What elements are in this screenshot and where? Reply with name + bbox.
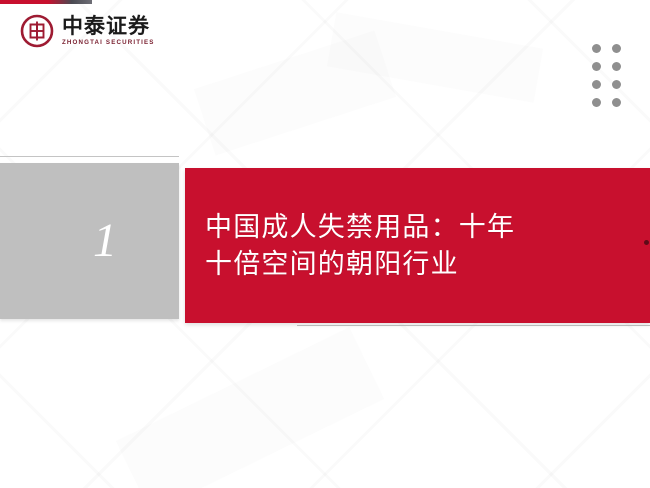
dot (612, 62, 621, 71)
dot (592, 62, 601, 71)
dot (592, 44, 601, 53)
section-title-banner: 中国成人失禁用品：十年 十倍空间的朝阳行业 (185, 168, 650, 323)
brand-logo: 中泰证券 ZHONGTAI SECURITIES (20, 14, 155, 48)
zhongtai-circular-emblem-icon (20, 14, 54, 48)
banner-underline (297, 325, 650, 326)
banner-speck (644, 240, 649, 245)
background-soft-shape (116, 327, 385, 488)
dot-grid-decoration (592, 44, 621, 107)
dot (612, 44, 621, 53)
brand-name-cn: 中泰证券 (62, 16, 155, 37)
dot (612, 98, 621, 107)
brand-name-en: ZHONGTAI SECURITIES (62, 40, 155, 46)
background-soft-shape (194, 30, 396, 155)
section-number: 1 (93, 217, 117, 265)
brand-wordmark: 中泰证券 ZHONGTAI SECURITIES (62, 16, 155, 46)
dot (592, 80, 601, 89)
background-soft-shape (327, 12, 543, 103)
section-number-panel: 1 (0, 163, 179, 319)
section-title: 中国成人失禁用品：十年 十倍空间的朝阳行业 (205, 208, 515, 283)
dot (612, 80, 621, 89)
presentation-slide: 中泰证券 ZHONGTAI SECURITIES 1 中国成人失禁用品：十年 十… (0, 0, 650, 488)
dot (592, 98, 601, 107)
section-panel-topline (0, 156, 179, 157)
top-accent-bar (0, 0, 92, 4)
